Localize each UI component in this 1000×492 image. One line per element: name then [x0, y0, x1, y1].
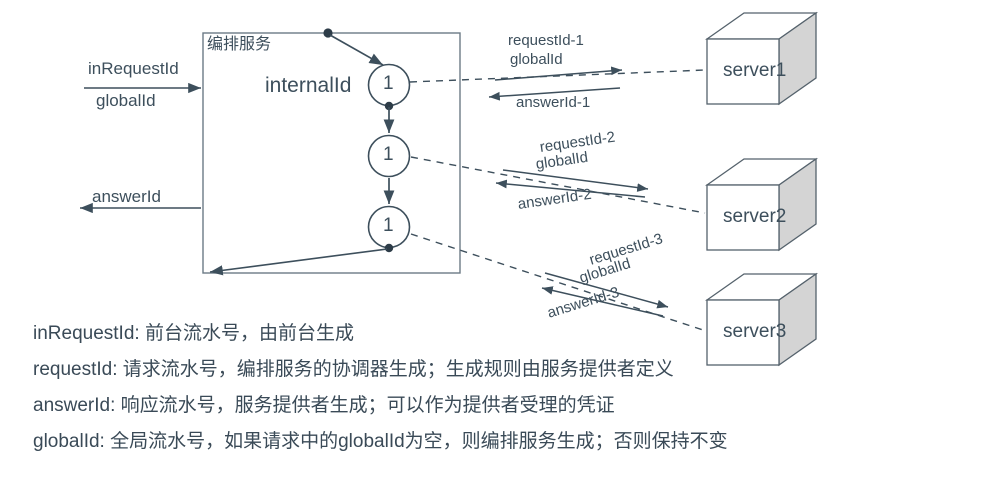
orchestrator-box [203, 33, 460, 273]
legend-line-answerid: answerId: 响应流水号，服务提供者生成；可以作为提供者受理的凭证 [33, 390, 615, 417]
flow1-answer-label: answerId-1 [516, 95, 590, 112]
server2-cube [707, 159, 816, 250]
flow1-request-arrow [495, 70, 622, 80]
orchestrator-title: 编排服务 [207, 36, 271, 54]
node-2-number: 1 [383, 145, 394, 166]
node3-exit-dot [385, 244, 393, 252]
flow1-request-label-line1: requestId-1 [508, 33, 584, 50]
internal-id-label: internalId [265, 74, 351, 97]
server2-label: server2 [723, 207, 786, 228]
legend-line-requestid: requestId: 请求流水号，编排服务的协调器生成；生成规则由服务提供者定义 [33, 354, 674, 381]
diagram-canvas: 编排服务 internalId 1 1 1 inRequestId global… [0, 0, 1000, 492]
server1-cube [707, 13, 816, 104]
server3-label: server3 [723, 322, 786, 343]
server1-label: server1 [723, 61, 786, 82]
node-3-number: 1 [383, 216, 394, 237]
input-label-globalid: globalId [96, 92, 156, 111]
server3-cube [707, 274, 816, 365]
legend-line-globalid: globalId: 全局流水号，如果请求中的globalId为空，则编排服务生成… [33, 426, 728, 453]
input-label-inrequestid: inRequestId [88, 60, 179, 79]
legend-line-inrequestid: inRequestId: 前台流水号，由前台生成 [33, 318, 354, 345]
node-1-number: 1 [383, 74, 394, 95]
output-label-answerid: answerId [92, 188, 161, 207]
flow1-request-label-line2: globalId [510, 52, 563, 69]
